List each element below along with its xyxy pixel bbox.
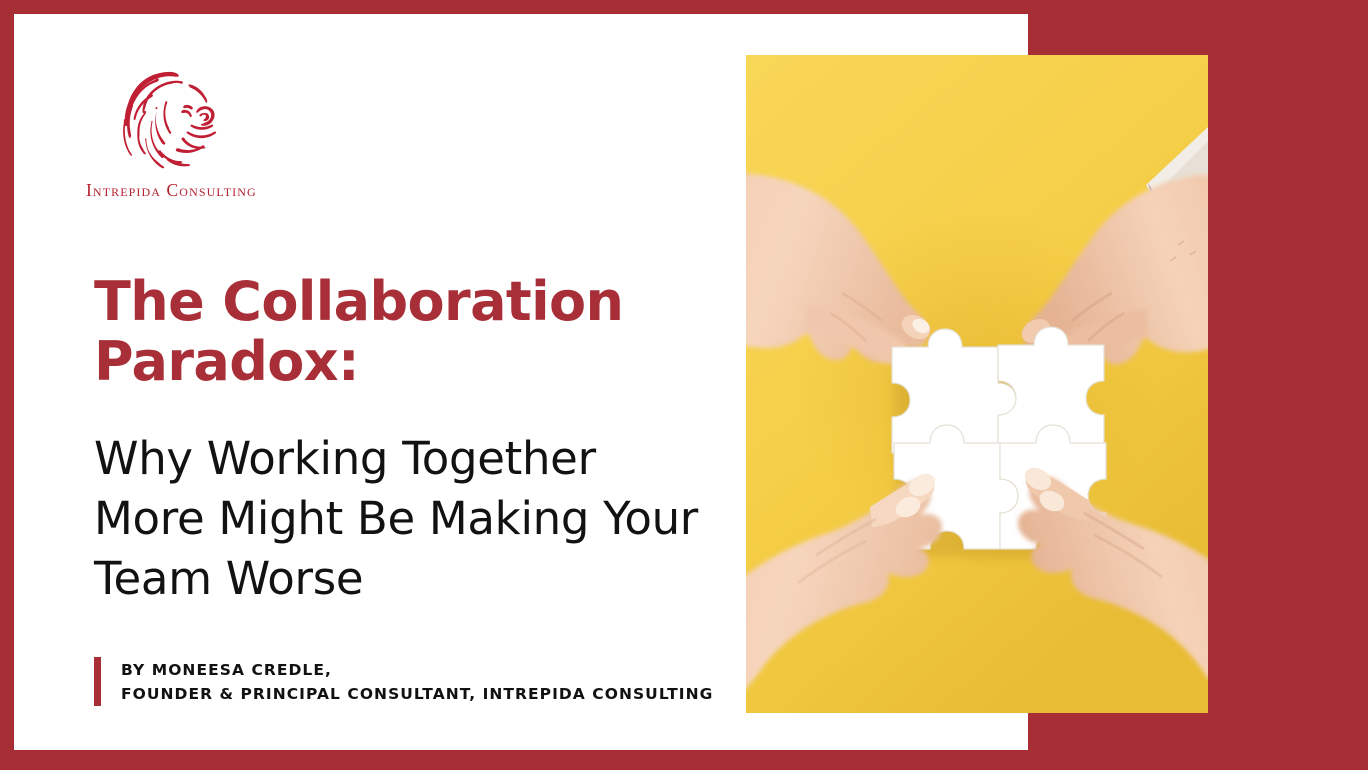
title-card-canvas: Intrepida Consulting The Collaboration P… <box>0 0 1368 770</box>
page-title: The Collaboration Paradox: <box>94 272 714 393</box>
brand-logo[interactable]: Intrepida Consulting <box>84 66 344 201</box>
byline: BY MONEESA CREDLE, FOUNDER & PRINCIPAL C… <box>94 657 713 706</box>
page-subtitle-line-1: Why Working Together <box>94 429 734 489</box>
page-title-line-1: The Collaboration <box>94 270 623 333</box>
page-subtitle: Why Working Together More Might Be Makin… <box>94 429 734 609</box>
logo-wordmark: Intrepida Consulting <box>86 180 344 201</box>
page-title-line-2: Paradox: <box>94 332 714 392</box>
puzzle-hands-illustration <box>746 55 1208 713</box>
byline-role: FOUNDER & PRINCIPAL CONSULTANT, INTREPID… <box>121 682 713 706</box>
byline-accent-bar <box>94 657 101 706</box>
page-subtitle-line-3: Team Worse <box>94 549 734 609</box>
lion-head-icon <box>108 66 226 170</box>
byline-author: BY MONEESA CREDLE, <box>121 658 713 682</box>
byline-text: BY MONEESA CREDLE, FOUNDER & PRINCIPAL C… <box>121 657 713 706</box>
hero-photo <box>746 55 1208 713</box>
page-subtitle-line-2: More Might Be Making Your <box>94 489 734 549</box>
